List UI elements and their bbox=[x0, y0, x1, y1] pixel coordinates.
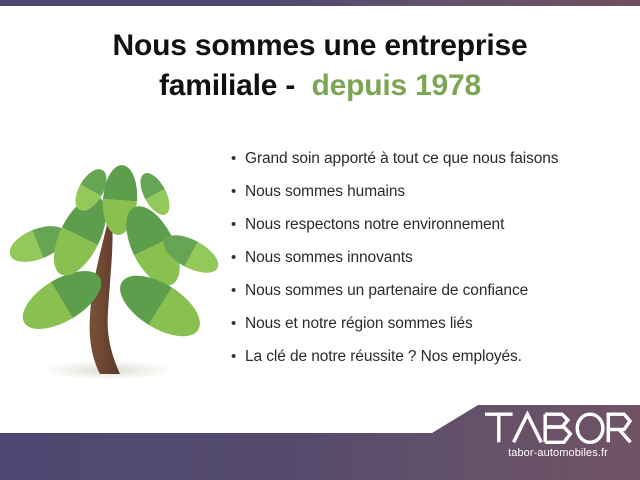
logo-tagline: tabor-automobiles.fr bbox=[484, 447, 632, 459]
tree-leaf-group bbox=[8, 164, 220, 349]
list-item: • Nous respectons notre environnement bbox=[231, 216, 631, 249]
page-title-accent: depuis 1978 bbox=[311, 69, 481, 102]
tree-illustration bbox=[8, 148, 220, 388]
list-item: • Nous sommes un partenaire de confiance bbox=[231, 282, 631, 315]
list-item-label: Nous et notre région sommes liés bbox=[245, 315, 473, 333]
list-item: • Grand soin apporté à tout ce que nous … bbox=[231, 150, 631, 183]
list-item: • Nous sommes innovants bbox=[231, 249, 631, 282]
bullet-icon: • bbox=[231, 283, 245, 298]
page-title: Nous sommes une entreprise familiale - d… bbox=[0, 26, 640, 105]
bullet-icon: • bbox=[231, 184, 245, 199]
list-item-label: Nous sommes innovants bbox=[245, 249, 413, 267]
bullet-icon: • bbox=[231, 151, 245, 166]
list-item-label: Nous sommes un partenaire de confiance bbox=[245, 282, 528, 300]
bullet-icon: • bbox=[231, 250, 245, 265]
list-item: • Nous sommes humains bbox=[231, 183, 631, 216]
brand-logo[interactable]: tabor-automobiles.fr bbox=[484, 410, 632, 459]
page-title-line-2: familiale - depuis 1978 bbox=[0, 66, 640, 106]
tabor-wordmark-icon bbox=[484, 410, 632, 446]
top-accent-band bbox=[0, 0, 640, 6]
bullet-icon: • bbox=[231, 217, 245, 232]
list-item-label: Nous respectons notre environnement bbox=[245, 216, 504, 234]
list-item: • La clé de notre réussite ? Nos employé… bbox=[231, 348, 631, 381]
slide-canvas: Nous sommes une entreprise familiale - d… bbox=[0, 0, 640, 480]
list-item: • Nous et notre région sommes liés bbox=[231, 315, 631, 348]
value-list: • Grand soin apporté à tout ce que nous … bbox=[231, 150, 631, 381]
list-item-label: Nous sommes humains bbox=[245, 183, 405, 201]
bullet-icon: • bbox=[231, 316, 245, 331]
bullet-icon: • bbox=[231, 349, 245, 364]
list-item-label: La clé de notre réussite ? Nos employés. bbox=[245, 348, 522, 366]
page-title-line-1: Nous sommes une entreprise bbox=[0, 26, 640, 66]
list-item-label: Grand soin apporté à tout ce que nous fa… bbox=[245, 150, 558, 168]
page-title-line-2-plain: familiale - bbox=[159, 69, 311, 102]
